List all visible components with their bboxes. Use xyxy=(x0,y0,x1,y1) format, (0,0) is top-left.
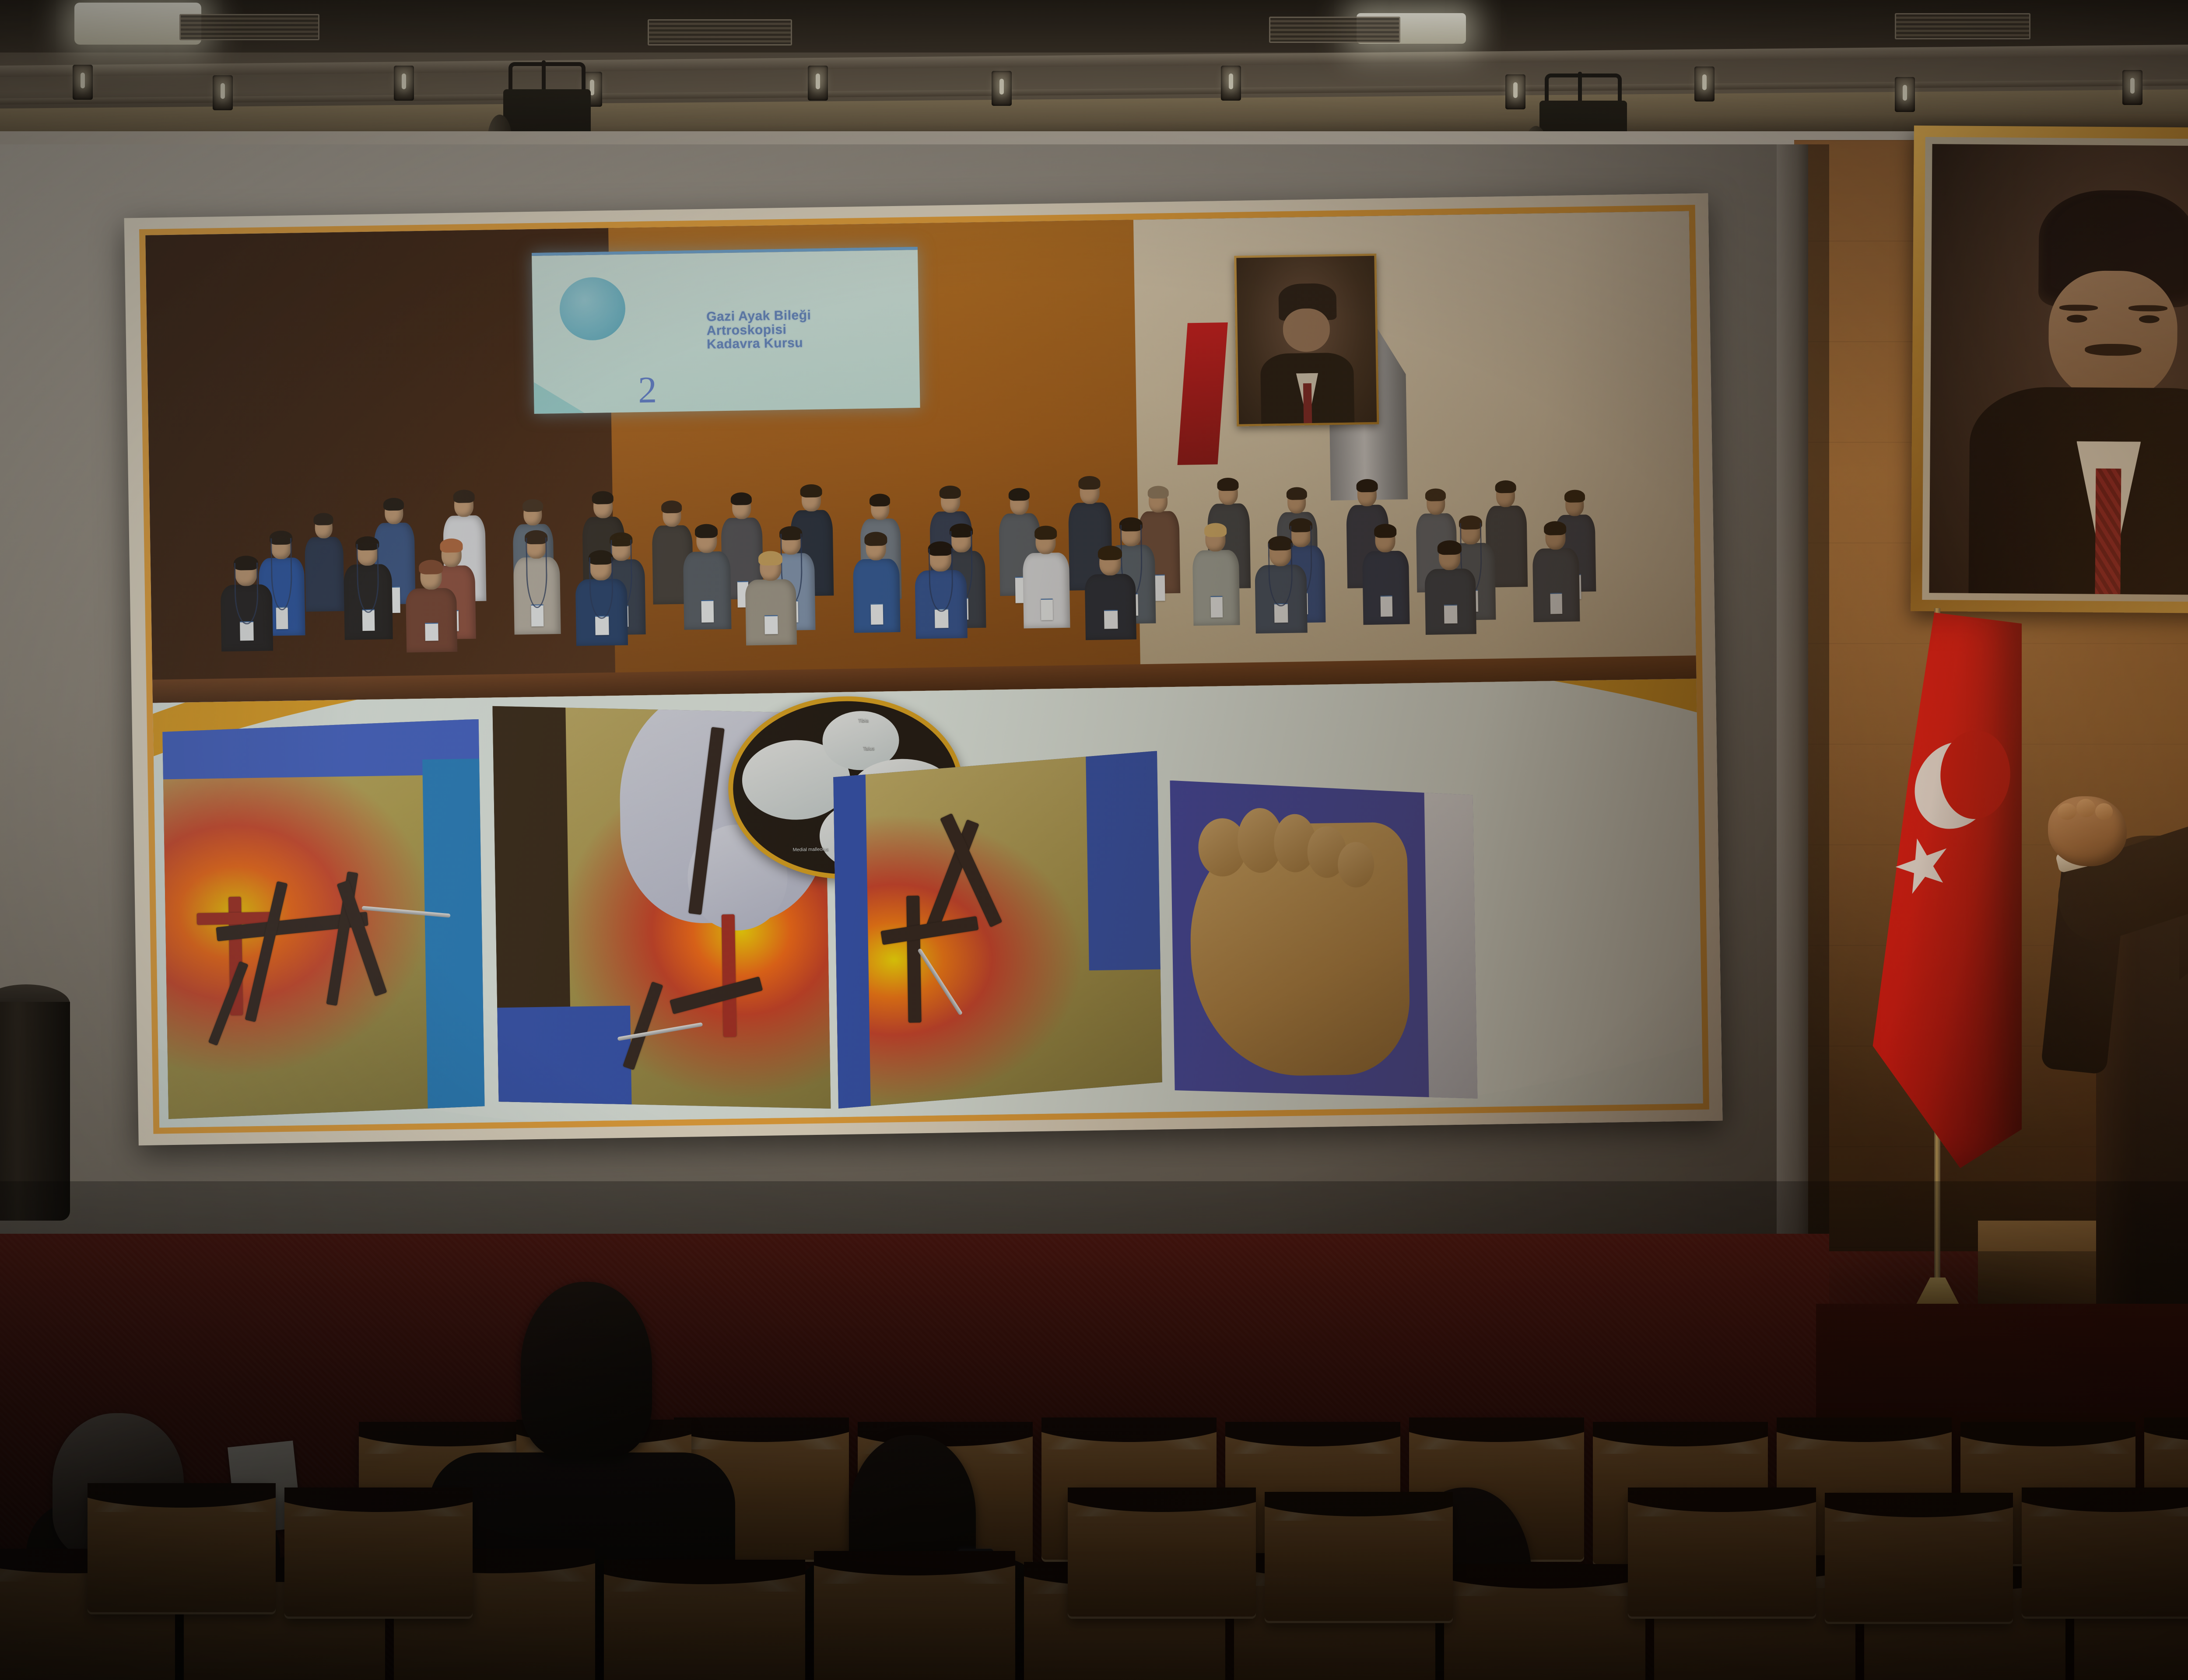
air-vent-icon xyxy=(179,14,319,40)
slide-surgical-section: Tibia Talus Medial malleolus xyxy=(153,679,1703,1127)
downlight-icon xyxy=(1895,77,1915,112)
downlight-icon xyxy=(394,66,414,101)
downlight-icon xyxy=(1694,66,1715,101)
auditorium-seat[interactable] xyxy=(2022,1487,2188,1619)
auditorium-seat[interactable] xyxy=(284,1487,473,1619)
downlight-icon xyxy=(1221,66,1241,101)
photo-attendees xyxy=(147,334,1697,708)
scope-label: Tibia xyxy=(858,718,869,724)
downlight-icon xyxy=(2122,70,2142,105)
auditorium-seat[interactable] xyxy=(1444,1564,1645,1680)
banner-title: Gazi Ayak Bileği Artroskopisi Kadavra Ku… xyxy=(706,307,912,352)
downlight-icon xyxy=(808,66,828,101)
scope-label: Talus xyxy=(863,745,874,752)
downlight-icon xyxy=(213,75,233,110)
downlight-icon xyxy=(73,65,93,100)
surgical-panel xyxy=(1170,776,1477,1103)
portrait-suit xyxy=(1968,387,2188,595)
projection-screen[interactable]: 2 Gazi Ayak Bileği Artroskopisi Kadavra … xyxy=(124,193,1723,1146)
course-logo-icon xyxy=(559,276,626,341)
auditorium-scene: 2 Gazi Ayak Bileği Artroskopisi Kadavra … xyxy=(0,0,2188,1680)
auditorium-seat[interactable] xyxy=(1068,1487,1256,1619)
downlight-icon xyxy=(992,71,1012,106)
slide-content: 2 Gazi Ayak Bileği Artroskopisi Kadavra … xyxy=(145,211,1703,1127)
auditorium-seat[interactable] xyxy=(1265,1492,1453,1623)
air-vent-icon xyxy=(648,19,792,45)
portrait-mat xyxy=(1922,137,2188,602)
surgical-panel xyxy=(162,719,485,1119)
speaker-raised-fist xyxy=(2048,796,2127,866)
portrait-tie xyxy=(2095,469,2121,595)
portrait-canvas xyxy=(1929,144,2188,595)
waste-bin-body xyxy=(0,1002,70,1221)
ataturk-portrait-frame xyxy=(1911,126,2188,614)
audience-head xyxy=(521,1282,652,1457)
slide-group-photo: 2 Gazi Ayak Bileği Artroskopisi Kadavra … xyxy=(145,211,1697,708)
auditorium-seat[interactable] xyxy=(1628,1487,1816,1619)
scope-label: Medial malleolus xyxy=(792,847,828,853)
auditorium-seat[interactable] xyxy=(814,1551,1015,1680)
ceiling-dark-band xyxy=(0,0,2188,52)
auditorium-seat[interactable] xyxy=(1825,1493,2013,1624)
auditorium-seat[interactable] xyxy=(604,1560,805,1680)
portrait-face xyxy=(2048,270,2178,402)
downlight-icon xyxy=(1505,74,1525,109)
air-vent-icon xyxy=(1895,13,2030,39)
slide-border: 2 Gazi Ayak Bileği Artroskopisi Kadavra … xyxy=(139,205,1709,1134)
air-vent-icon xyxy=(1269,17,1400,43)
auditorium-seat[interactable] xyxy=(88,1483,276,1614)
surgical-panel xyxy=(833,751,1162,1108)
